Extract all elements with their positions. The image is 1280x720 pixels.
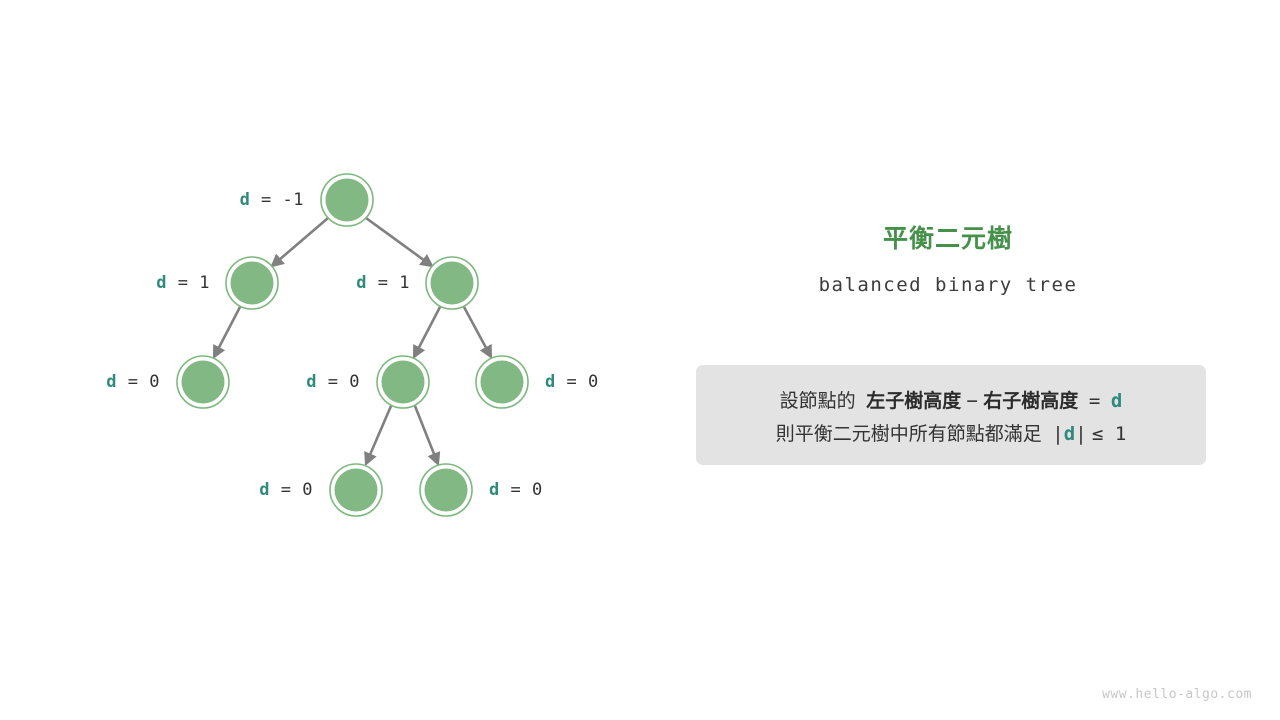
d-value: = -1	[250, 190, 304, 210]
edge-right-leftchild	[414, 307, 440, 357]
d-variable: d	[1064, 423, 1075, 445]
d-value: = 0	[317, 372, 360, 392]
edge-left-leftchild	[214, 307, 240, 357]
info-panel: 平衡二元樹 balanced binary tree 設節點的 左子樹高度 − …	[660, 0, 1280, 720]
d-variable: d	[489, 480, 500, 500]
abs-bar-open: |	[1052, 423, 1063, 445]
d-value: = 0	[556, 372, 599, 392]
d-variable: d	[156, 273, 167, 293]
tree-node-right-left-right[interactable]	[420, 464, 472, 516]
title-block: 平衡二元樹 balanced binary tree	[660, 222, 1236, 298]
abs-bar-close: |	[1075, 423, 1086, 445]
tree-nodes	[177, 174, 528, 516]
d-value: = 1	[167, 273, 210, 293]
definition-line-2: 則平衡二元樹中所有節點都滿足 |d| ≤ 1	[696, 418, 1206, 451]
tree-node-right-left-left[interactable]	[330, 464, 382, 516]
tree-node-right[interactable]	[426, 257, 478, 309]
d-value: = 1	[367, 273, 410, 293]
edge-rl-leftchild	[366, 406, 391, 464]
edge-rl-rightchild	[415, 406, 438, 464]
tree-edges	[214, 218, 491, 464]
d-variable: d	[240, 190, 251, 210]
right-subtree-height-term: 右子樹高度	[983, 391, 1078, 412]
inequality-condition: ≤ 1	[1092, 423, 1126, 445]
tree-node-right-right[interactable]	[476, 356, 528, 408]
minus-operator: −	[967, 390, 978, 412]
node-label-left-left: d = 0	[10, 372, 160, 392]
node-label-root: d = -1	[154, 190, 304, 210]
node-label-right-left-right: d = 0	[489, 480, 639, 500]
diagram-canvas: d = -1 d = 1 d = 1 d = 0 d = 0 d = 0 d =…	[0, 0, 1280, 720]
d-variable: d	[1111, 390, 1122, 412]
node-label-right-left: d = 0	[210, 372, 360, 392]
edge-root-left	[272, 218, 328, 266]
watermark: www.hello-algo.com	[1102, 687, 1252, 702]
d-variable: d	[545, 372, 556, 392]
binary-tree-diagram: d = -1 d = 1 d = 1 d = 0 d = 0 d = 0 d =…	[0, 0, 660, 720]
page-subtitle: balanced binary tree	[660, 272, 1236, 298]
d-variable: d	[259, 480, 270, 500]
node-label-right-left-left: d = 0	[163, 480, 313, 500]
d-variable: d	[356, 273, 367, 293]
edge-right-rightchild	[464, 307, 491, 357]
d-variable: d	[106, 372, 117, 392]
tree-node-root[interactable]	[321, 174, 373, 226]
tree-graphics	[0, 0, 660, 720]
node-label-left: d = 1	[60, 273, 210, 293]
definition-line-1: 設節點的 左子樹高度 − 右子樹高度 = d	[696, 385, 1206, 418]
definition-condition-prefix: 則平衡二元樹中所有節點都滿足	[776, 424, 1042, 445]
page-title: 平衡二元樹	[660, 222, 1236, 256]
d-value: = 0	[500, 480, 543, 500]
tree-node-right-left[interactable]	[377, 356, 429, 408]
equals-operator: =	[1089, 390, 1100, 412]
definition-box: 設節點的 左子樹高度 − 右子樹高度 = d 則平衡二元樹中所有節點都滿足 |d…	[696, 365, 1206, 465]
d-value: = 0	[117, 372, 160, 392]
edge-root-right	[366, 218, 432, 266]
d-variable: d	[306, 372, 317, 392]
definition-prefix: 設節點的	[780, 391, 856, 412]
node-label-right: d = 1	[260, 273, 410, 293]
left-subtree-height-term: 左子樹高度	[866, 391, 961, 412]
d-value: = 0	[270, 480, 313, 500]
